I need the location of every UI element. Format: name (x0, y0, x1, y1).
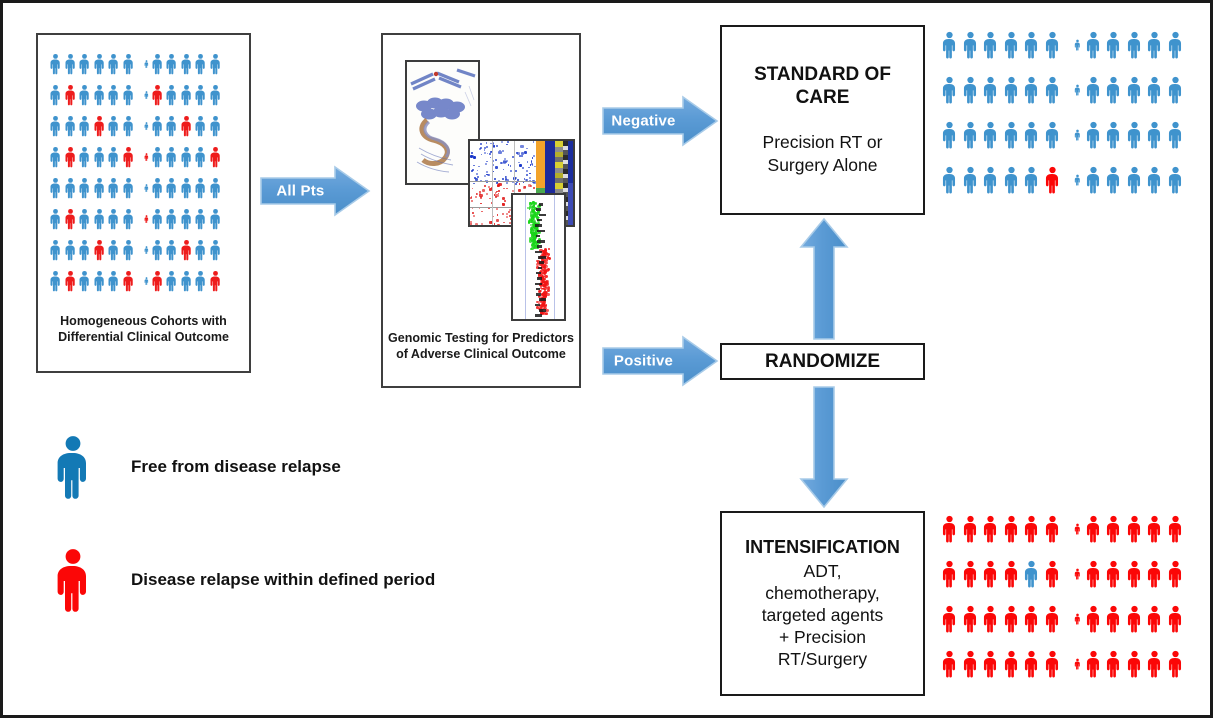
person-icon (962, 72, 979, 108)
arrow-positive: Positive (601, 335, 719, 387)
person-icon (165, 177, 178, 199)
person-cell (1146, 27, 1163, 63)
person-icon (107, 53, 120, 75)
person-cell (941, 27, 958, 63)
person-icon (209, 115, 222, 137)
person-cell (165, 53, 178, 75)
person-cell (962, 511, 979, 547)
person-icon (982, 646, 999, 682)
person-icon (78, 146, 91, 168)
person-icon (209, 177, 222, 199)
person-cell (962, 556, 979, 592)
person-cell (78, 146, 91, 168)
genomics-caption-line1: Genomic Testing for Predictors (383, 330, 579, 346)
person-icon (49, 177, 62, 199)
standard-of-care-title-line2: CARE (754, 86, 891, 109)
person-icon (93, 239, 106, 261)
person-cell (107, 239, 120, 261)
person-cell (165, 239, 178, 261)
person-icon (941, 162, 958, 198)
person-icon (1126, 646, 1143, 682)
person-cell (144, 208, 149, 230)
person-icon (107, 146, 120, 168)
person-cell (49, 53, 62, 75)
person-icon (941, 117, 958, 153)
person-cell (49, 146, 62, 168)
person-cell (122, 84, 135, 106)
person-cell (1105, 646, 1122, 682)
person-icon (982, 72, 999, 108)
person-icon (180, 270, 193, 292)
person-cell (49, 270, 62, 292)
genomics-panel: Genomic Testing for Predictors of Advers… (381, 33, 581, 388)
person-cell (1085, 72, 1102, 108)
person-cell (180, 146, 193, 168)
person-icon (151, 53, 164, 75)
person-cell (122, 146, 135, 168)
person-cell (941, 601, 958, 637)
person-cell (1167, 601, 1184, 637)
person-cell (122, 239, 135, 261)
person-cell (165, 146, 178, 168)
person-cell (941, 511, 958, 547)
person-cell (194, 208, 207, 230)
person-icon (64, 239, 77, 261)
person-icon (180, 115, 193, 137)
person-cell (49, 84, 62, 106)
genomics-caption-line2: of Adverse Clinical Outcome (383, 346, 579, 362)
person-cell (180, 208, 193, 230)
person-icon (1126, 601, 1143, 637)
person-cell (49, 208, 62, 230)
legend-item-free-from-relapse: Free from disease relapse (53, 435, 341, 499)
person-cell (1146, 72, 1163, 108)
person-cell (151, 115, 164, 137)
person-cell (982, 117, 999, 153)
intensification-box: INTENSIFICATION ADT,chemotherapy,targete… (720, 511, 925, 696)
standard-of-care-title: STANDARD OF CARE (754, 63, 891, 109)
person-icon (165, 115, 178, 137)
person-icon (93, 208, 106, 230)
person-icon (1146, 646, 1163, 682)
person-icon (64, 53, 77, 75)
person-cell (151, 84, 164, 106)
person-icon (1044, 27, 1061, 63)
intensification-body-line-4: + Precision (762, 626, 884, 648)
person-cell (941, 117, 958, 153)
person-icon (1146, 162, 1163, 198)
person-icon (1044, 556, 1061, 592)
person-cell (151, 239, 164, 261)
person-cell (151, 177, 164, 199)
person-icon (962, 27, 979, 63)
person-red-icon (53, 548, 93, 612)
person-cell (107, 146, 120, 168)
person-cell (209, 53, 222, 75)
person-cell (165, 270, 178, 292)
person-cell (1074, 556, 1081, 592)
person-cell (49, 115, 62, 137)
person-cell (209, 146, 222, 168)
person-icon (1074, 162, 1081, 198)
person-icon (194, 146, 207, 168)
intensification-body-line-5: RT/Surgery (762, 648, 884, 670)
person-icon (64, 208, 77, 230)
person-cell (1085, 556, 1102, 592)
person-icon (1167, 27, 1184, 63)
cohort-caption: Homogeneous Cohorts with Differential Cl… (38, 313, 249, 346)
person-icon (1003, 72, 1020, 108)
person-cell (982, 601, 999, 637)
person-cell (93, 115, 106, 137)
person-cell (982, 646, 999, 682)
person-cell (1074, 72, 1081, 108)
person-icon (1105, 162, 1122, 198)
person-icon (1023, 27, 1040, 63)
person-cell (1003, 72, 1020, 108)
person-cell (64, 53, 77, 75)
person-cell (1085, 646, 1102, 682)
person-cell (962, 601, 979, 637)
person-icon (1085, 601, 1102, 637)
person-cell (1044, 162, 1061, 198)
person-cell (1044, 511, 1061, 547)
person-cell (64, 270, 77, 292)
person-cell (1003, 556, 1020, 592)
person-cell (78, 84, 91, 106)
person-icon (93, 270, 106, 292)
person-icon (93, 84, 106, 106)
sequencing-trace-image (511, 193, 566, 321)
person-cell (1074, 162, 1081, 198)
person-cell (209, 208, 222, 230)
person-cell (1003, 162, 1020, 198)
person-cell (1167, 117, 1184, 153)
person-icon (49, 115, 62, 137)
arrow-negative: Negative (601, 95, 719, 147)
person-icon (122, 53, 135, 75)
person-icon (49, 208, 62, 230)
person-cell (93, 53, 106, 75)
person-cell (1023, 556, 1040, 592)
person-cell (49, 239, 62, 261)
person-cell (1003, 117, 1020, 153)
person-icon (1146, 72, 1163, 108)
person-cell (1023, 646, 1040, 682)
person-cell (1074, 117, 1081, 153)
person-icon (209, 53, 222, 75)
person-icon (78, 53, 91, 75)
person-cell (78, 239, 91, 261)
legend-item-disease-relapse: Disease relapse within defined period (53, 548, 435, 612)
person-icon (1085, 72, 1102, 108)
person-icon (1105, 27, 1122, 63)
person-cell (1003, 601, 1020, 637)
person-cell (151, 270, 164, 292)
person-cell (982, 511, 999, 547)
person-cell (165, 84, 178, 106)
person-cell (180, 177, 193, 199)
person-icon (1023, 162, 1040, 198)
cohort-caption-line1: Homogeneous Cohorts with (38, 313, 249, 329)
person-cell (78, 115, 91, 137)
person-icon (194, 270, 207, 292)
person-cell (209, 270, 222, 292)
person-cell (982, 72, 999, 108)
person-icon (1105, 601, 1122, 637)
person-icon (1044, 72, 1061, 108)
person-cell (1126, 27, 1143, 63)
person-icon (93, 146, 106, 168)
person-cell (1126, 72, 1143, 108)
person-icon (1044, 511, 1061, 547)
person-cell (209, 115, 222, 137)
person-icon (1167, 511, 1184, 547)
person-icon (1074, 646, 1081, 682)
person-icon (1023, 117, 1040, 153)
person-icon (1044, 646, 1061, 682)
person-icon (1085, 511, 1102, 547)
person-cell (93, 208, 106, 230)
person-blue-icon (53, 435, 93, 499)
person-cell (107, 53, 120, 75)
person-icon (53, 548, 93, 612)
person-cell (1126, 646, 1143, 682)
person-icon (165, 270, 178, 292)
person-icon (1146, 556, 1163, 592)
person-icon (49, 53, 62, 75)
person-icon (165, 146, 178, 168)
person-cell (962, 117, 979, 153)
person-icon (1003, 27, 1020, 63)
person-cell (107, 270, 120, 292)
standard-of-care-box: STANDARD OF CARE Precision RT or Surgery… (720, 25, 925, 215)
person-cell (144, 177, 149, 199)
standard-of-care-outcome-grid (941, 27, 1184, 213)
person-icon (122, 208, 135, 230)
person-icon (1126, 511, 1143, 547)
person-cell (64, 239, 77, 261)
person-cell (1085, 162, 1102, 198)
person-cell (962, 162, 979, 198)
person-icon (49, 270, 62, 292)
person-cell (1085, 511, 1102, 547)
person-cell (962, 72, 979, 108)
person-icon (122, 115, 135, 137)
person-cell (180, 270, 193, 292)
person-icon (64, 146, 77, 168)
person-cell (64, 115, 77, 137)
person-icon (64, 177, 77, 199)
person-cell (165, 177, 178, 199)
person-icon (982, 601, 999, 637)
person-cell (180, 239, 193, 261)
person-icon (941, 556, 958, 592)
arrow-positive-shape (601, 335, 719, 387)
person-icon (78, 270, 91, 292)
person-cell (1023, 27, 1040, 63)
person-cell (194, 84, 207, 106)
person-icon (1044, 601, 1061, 637)
person-cell (962, 27, 979, 63)
arrow-to-standard-of-care (799, 217, 849, 341)
person-icon (1023, 556, 1040, 592)
person-cell (1074, 601, 1081, 637)
person-icon (1146, 511, 1163, 547)
person-icon (1146, 601, 1163, 637)
person-icon (1167, 646, 1184, 682)
person-icon (941, 646, 958, 682)
person-cell (180, 53, 193, 75)
standard-of-care-title-line1: STANDARD OF (754, 63, 891, 86)
person-icon (165, 239, 178, 261)
person-icon (194, 115, 207, 137)
person-icon (1074, 72, 1081, 108)
person-cell (1044, 646, 1061, 682)
person-cell (1105, 27, 1122, 63)
person-icon (194, 208, 207, 230)
person-icon (1074, 117, 1081, 153)
person-icon (122, 270, 135, 292)
person-cell (1023, 601, 1040, 637)
person-icon (180, 146, 193, 168)
person-icon (209, 84, 222, 106)
person-cell (151, 208, 164, 230)
person-icon (962, 601, 979, 637)
standard-of-care-body-line1: Precision RT or (763, 131, 883, 154)
person-cell (1146, 511, 1163, 547)
person-icon (1085, 27, 1102, 63)
person-icon (144, 53, 149, 75)
person-cell (1023, 511, 1040, 547)
person-icon (1003, 556, 1020, 592)
person-cell (1085, 117, 1102, 153)
intensification-body-line-1: ADT, (762, 560, 884, 582)
person-cell (1044, 601, 1061, 637)
person-icon (1044, 117, 1061, 153)
person-cell (78, 53, 91, 75)
person-cell (1167, 646, 1184, 682)
person-icon (49, 146, 62, 168)
person-cell (93, 270, 106, 292)
person-icon (1105, 646, 1122, 682)
person-icon (151, 177, 164, 199)
person-cell (1146, 162, 1163, 198)
person-cell (122, 208, 135, 230)
person-icon (941, 511, 958, 547)
person-cell (941, 556, 958, 592)
person-cell (165, 208, 178, 230)
person-icon (144, 115, 149, 137)
person-cell (1126, 511, 1143, 547)
person-icon (78, 115, 91, 137)
person-icon (165, 84, 178, 106)
person-icon (180, 53, 193, 75)
person-icon (107, 270, 120, 292)
person-icon (64, 115, 77, 137)
person-icon (144, 208, 149, 230)
person-cell (122, 115, 135, 137)
person-icon (1044, 162, 1061, 198)
person-icon (144, 146, 149, 168)
person-cell (1105, 117, 1122, 153)
person-cell (144, 146, 149, 168)
person-icon (962, 162, 979, 198)
person-icon (962, 117, 979, 153)
person-cell (941, 162, 958, 198)
person-icon (180, 84, 193, 106)
person-icon (49, 84, 62, 106)
person-icon (165, 208, 178, 230)
person-cell (982, 27, 999, 63)
person-cell (1105, 556, 1122, 592)
person-icon (209, 208, 222, 230)
person-icon (107, 84, 120, 106)
person-icon (180, 208, 193, 230)
person-icon (1126, 556, 1143, 592)
person-icon (93, 177, 106, 199)
person-icon (122, 84, 135, 106)
person-icon (1023, 646, 1040, 682)
arrow-up-shape (799, 217, 849, 341)
person-cell (1023, 117, 1040, 153)
person-icon (165, 53, 178, 75)
person-cell (982, 162, 999, 198)
person-cell (1167, 511, 1184, 547)
person-cell (1126, 601, 1143, 637)
person-cell (1023, 162, 1040, 198)
person-cell (1126, 556, 1143, 592)
person-cell (941, 646, 958, 682)
person-icon (982, 117, 999, 153)
trial-schema-figure: Homogeneous Cohorts with Differential Cl… (0, 0, 1213, 718)
person-icon (122, 146, 135, 168)
person-icon (49, 239, 62, 261)
person-icon (1085, 162, 1102, 198)
person-cell (1074, 511, 1081, 547)
person-cell (78, 270, 91, 292)
person-icon (122, 239, 135, 261)
person-icon (982, 162, 999, 198)
person-cell (64, 146, 77, 168)
person-icon (1003, 117, 1020, 153)
person-icon (1105, 511, 1122, 547)
person-cell (1085, 27, 1102, 63)
person-icon (1074, 511, 1081, 547)
person-icon (1105, 556, 1122, 592)
person-cell (151, 53, 164, 75)
intensification-title: INTENSIFICATION (745, 537, 900, 559)
person-icon (1074, 556, 1081, 592)
person-icon (107, 115, 120, 137)
person-icon (151, 146, 164, 168)
arrow-to-intensification (799, 385, 849, 509)
person-cell (107, 115, 120, 137)
person-cell (1003, 511, 1020, 547)
person-icon (1126, 72, 1143, 108)
person-cell (1003, 27, 1020, 63)
person-cell (122, 270, 135, 292)
person-cell (194, 270, 207, 292)
person-cell (1044, 556, 1061, 592)
person-cell (1167, 162, 1184, 198)
intensification-body: ADT,chemotherapy,targeted agents+ Precis… (762, 560, 884, 670)
person-icon (78, 239, 91, 261)
person-cell (144, 84, 149, 106)
person-icon (1167, 117, 1184, 153)
person-icon (180, 239, 193, 261)
person-cell (78, 208, 91, 230)
